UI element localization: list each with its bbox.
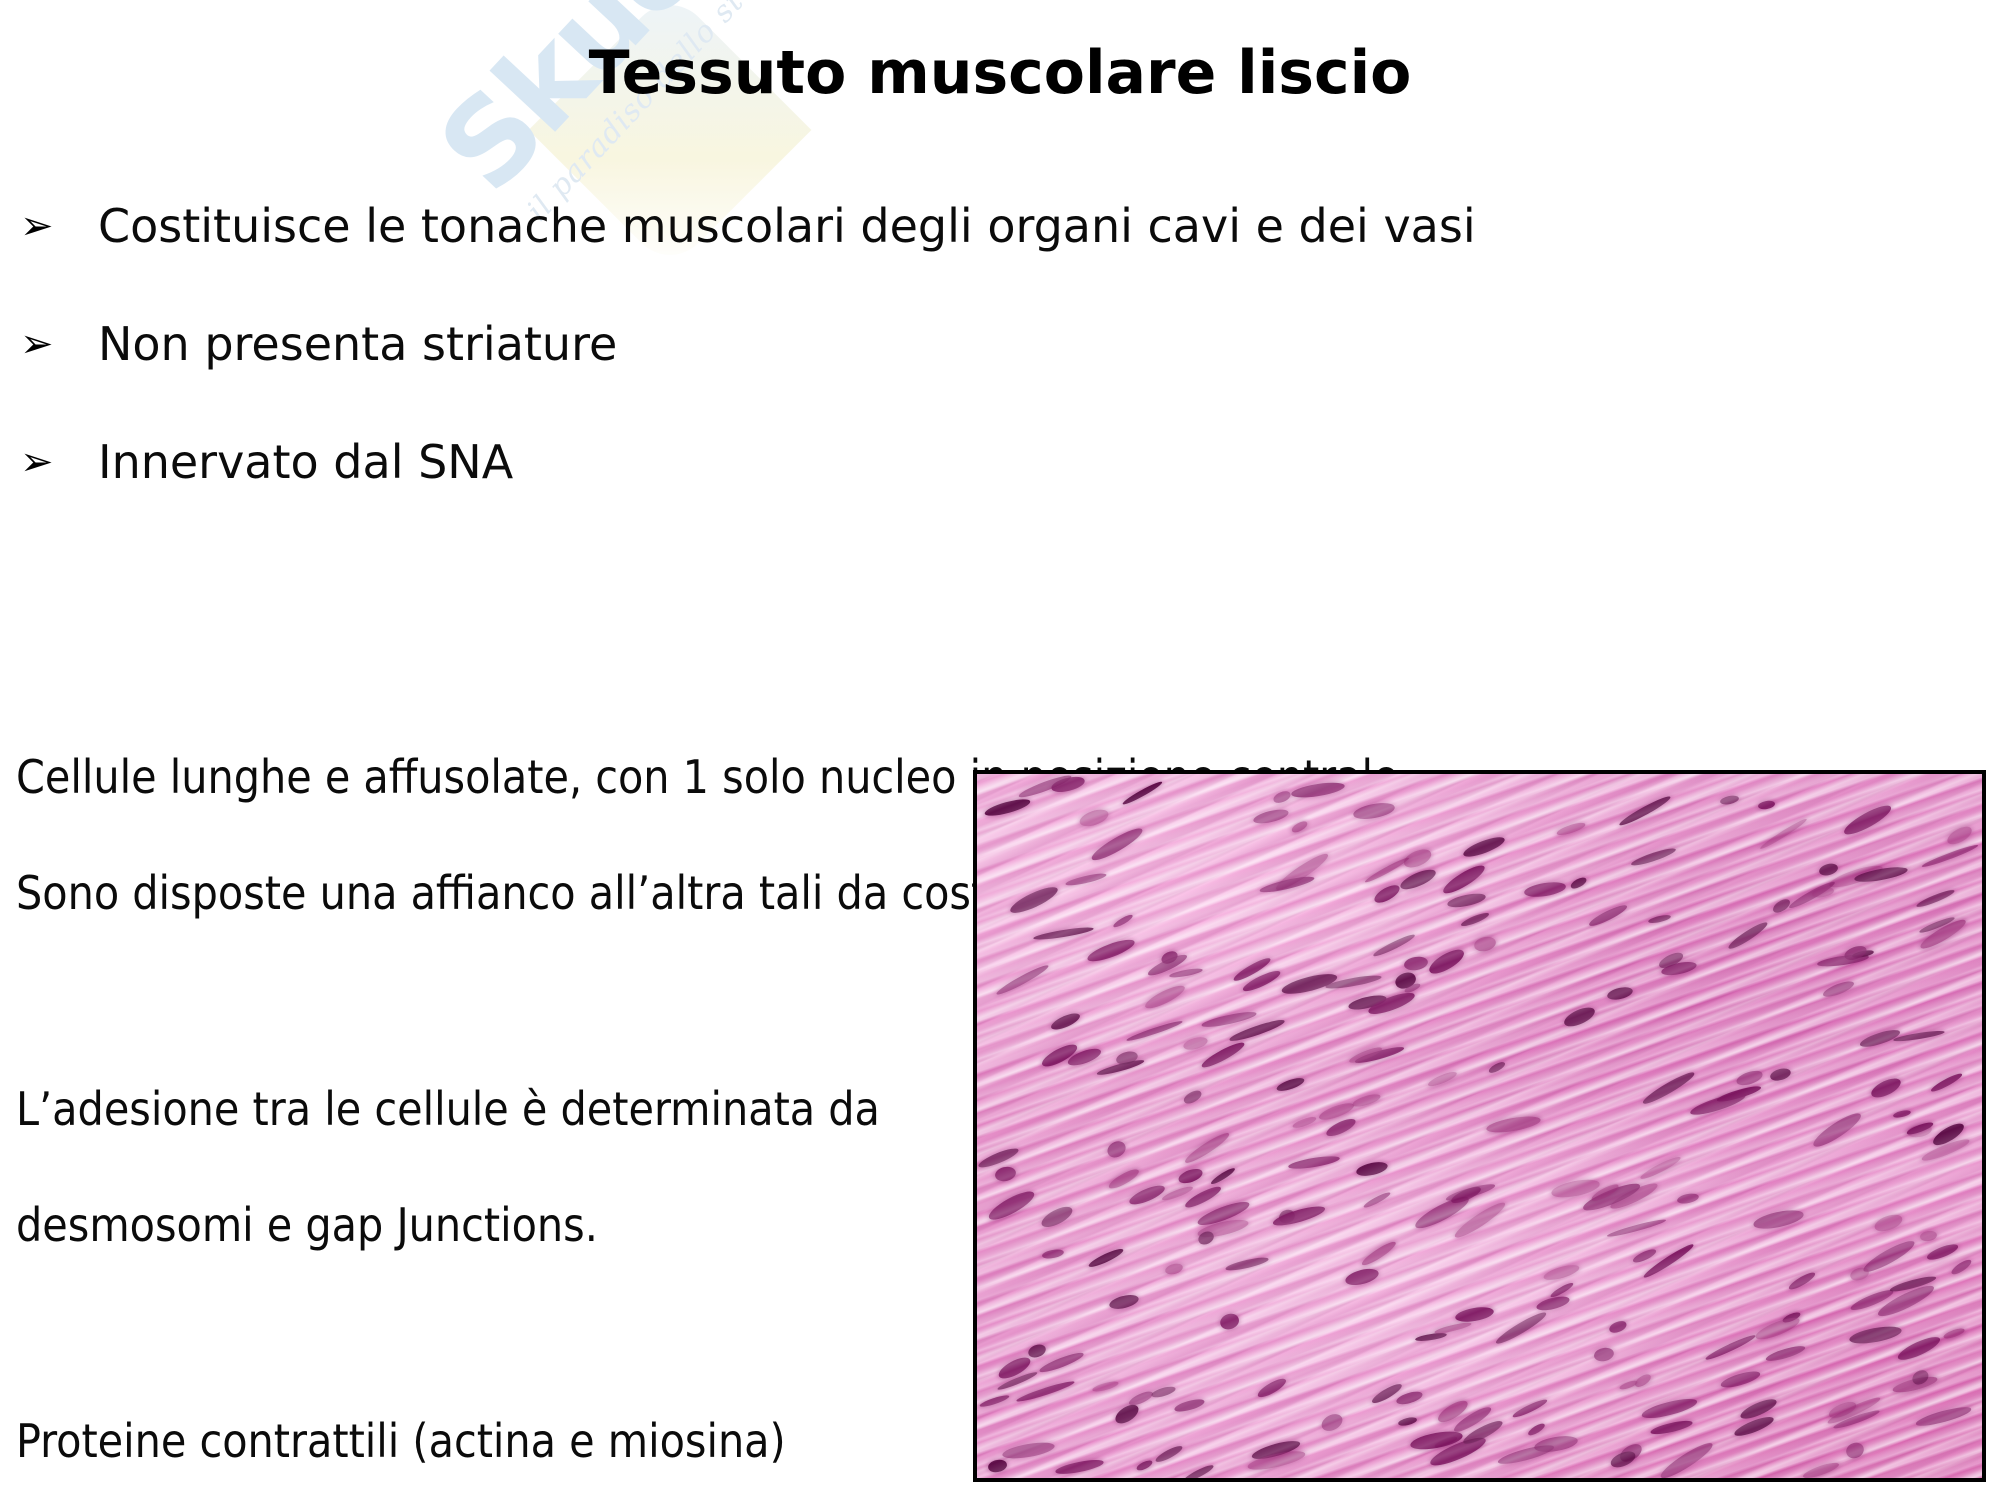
slide-canvas: Skuola.net il paradiso dello studente Te… <box>0 0 2000 1500</box>
texture-veil <box>977 774 1982 1478</box>
list-item: ➢ Innervato dal SNA <box>14 436 1914 488</box>
watermark-tagline: il paradiso dello studente <box>520 0 996 228</box>
bullet-label-1: Non presenta striature <box>98 318 617 370</box>
arrow-bullet-icon: ➢ <box>14 436 98 488</box>
bullet-list: ➢ Costituisce le tonache muscolari degli… <box>14 200 1914 554</box>
bullet-label-0: Costituisce le tonache muscolari degli o… <box>98 200 1476 252</box>
list-item: ➢ Non presenta striature <box>14 318 1914 370</box>
arrow-bullet-icon: ➢ <box>14 200 98 252</box>
page-title: Tessuto muscolare liscio <box>0 38 2000 108</box>
watermark-brand-main: Skuol <box>413 0 752 217</box>
histology-micrograph-image <box>973 770 1986 1482</box>
list-item: ➢ Costituisce le tonache muscolari degli… <box>14 200 1914 252</box>
bullet-label-2: Innervato dal SNA <box>98 436 513 488</box>
arrow-bullet-icon: ➢ <box>14 318 98 370</box>
